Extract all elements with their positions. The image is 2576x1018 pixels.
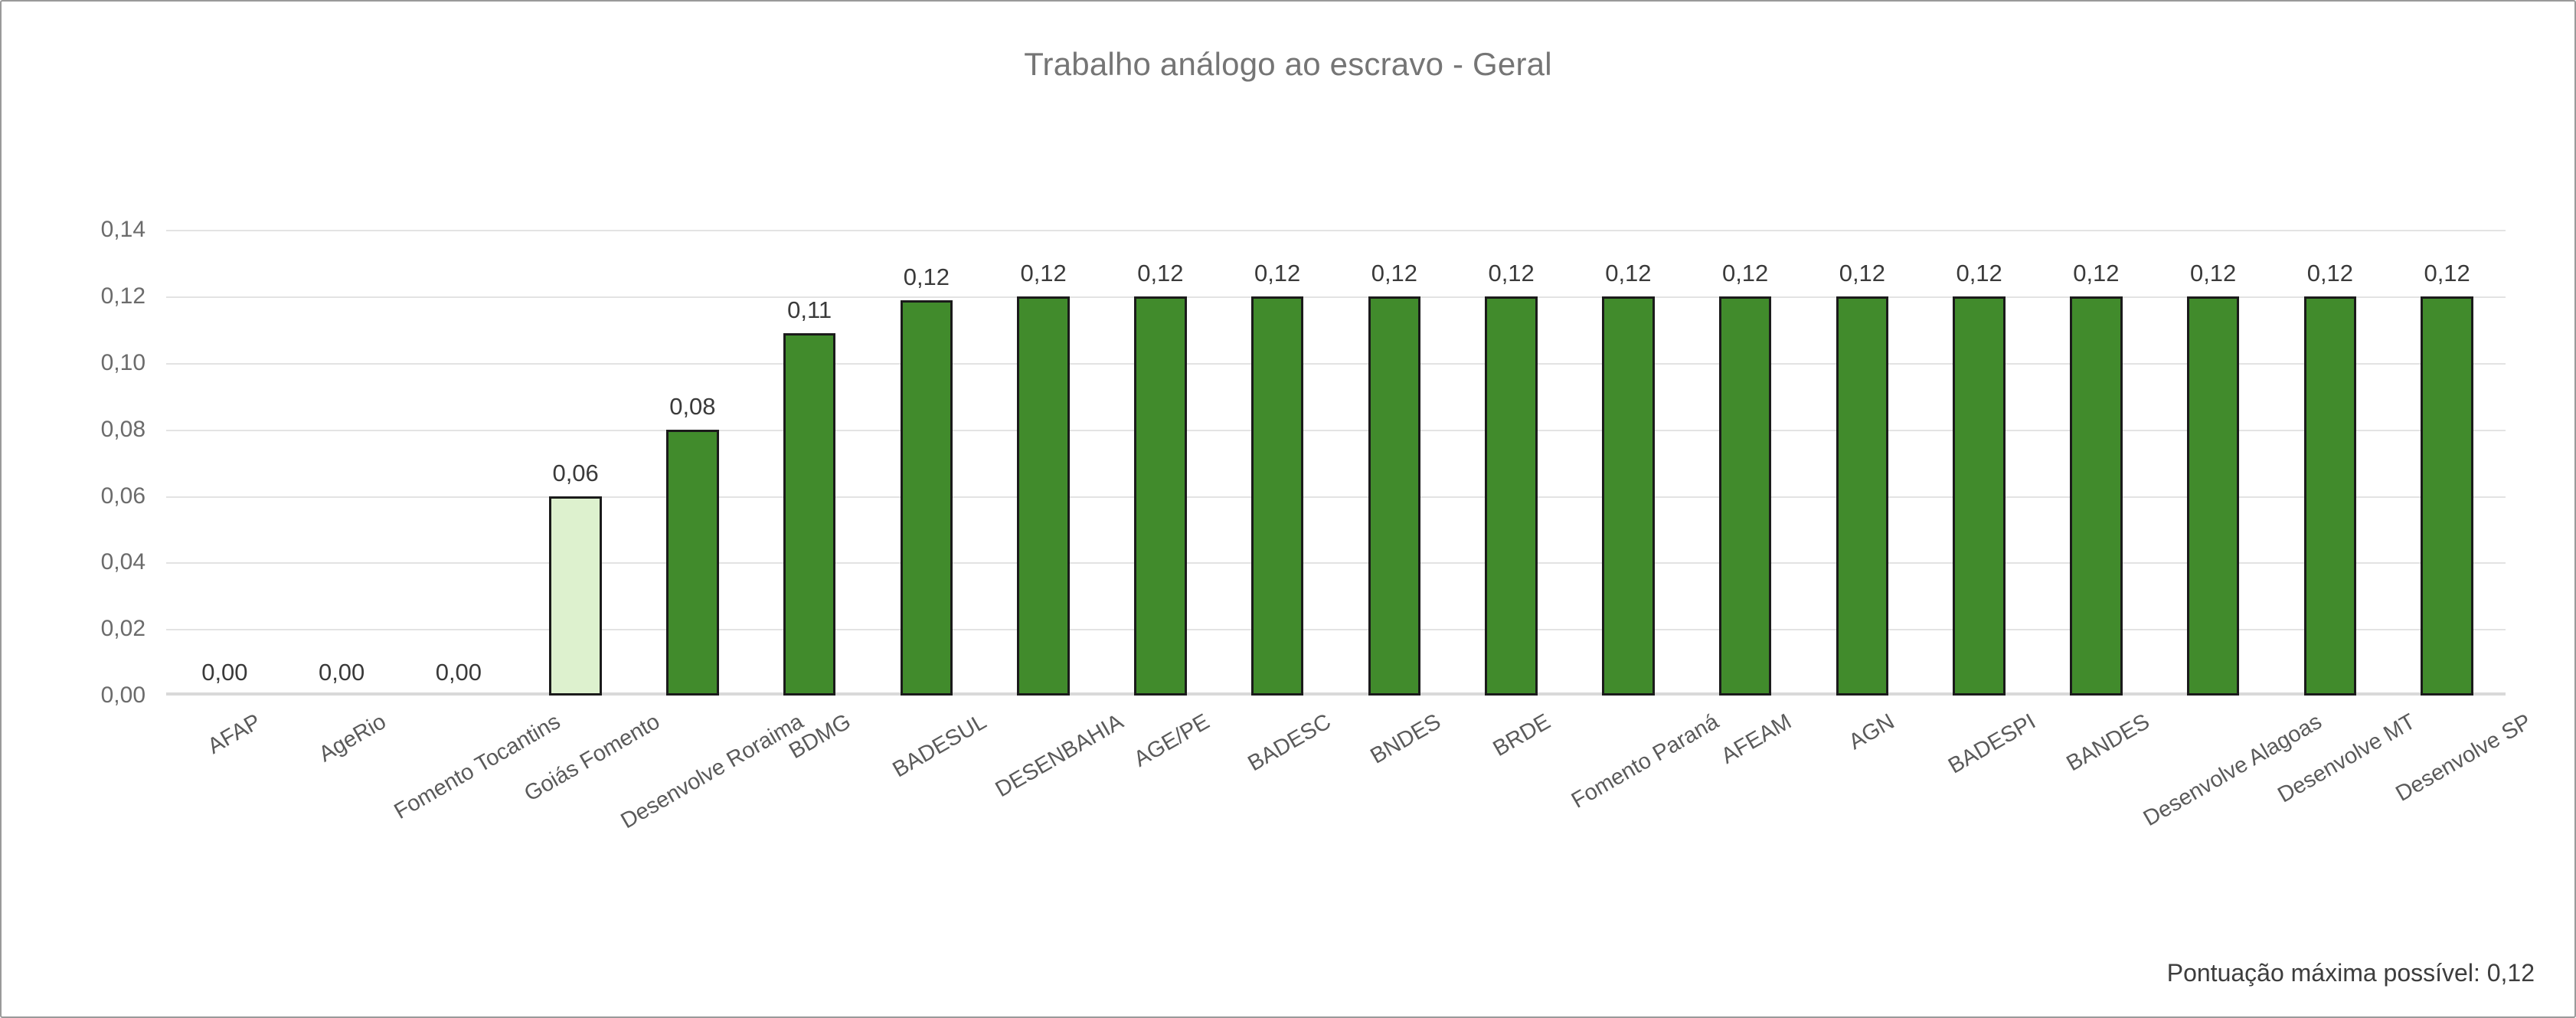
x-axis-tick: BADESC — [1219, 696, 1336, 925]
bar[interactable] — [1485, 296, 1538, 696]
x-axis-tick: Desenvolve Alagoas — [2155, 696, 2272, 925]
y-axis: 0,000,020,040,060,080,100,120,14 — [47, 197, 155, 696]
y-axis-tick-label: 0,04 — [101, 549, 145, 575]
x-axis-tick: BANDES — [2038, 696, 2155, 925]
bars-layer: 0,000,000,000,060,080,110,120,120,120,12… — [166, 197, 2506, 696]
y-axis-tick-label: 0,00 — [101, 682, 145, 709]
bar[interactable] — [2187, 296, 2240, 696]
bar-value-label: 0,11 — [751, 296, 868, 324]
x-axis: AFAPAgeRioFomento TocantinsGoiás Fomento… — [166, 696, 2506, 925]
bar-group: 0,00 — [400, 197, 518, 696]
bar-value-label: 0,08 — [634, 393, 751, 421]
x-axis-tick: BADESUL — [868, 696, 986, 925]
x-axis-tick-label: BNDES — [1366, 709, 1445, 770]
bar-group: 0,12 — [1687, 197, 1804, 696]
x-axis-tick: BRDE — [1453, 696, 1570, 925]
bar[interactable] — [2070, 296, 2123, 696]
x-axis-tick: Desenvolve SP — [2388, 696, 2506, 925]
bar[interactable] — [666, 430, 719, 696]
bar-group: 0,12 — [868, 197, 986, 696]
bar[interactable] — [1953, 296, 2006, 696]
x-axis-tick: AFEAM — [1687, 696, 1804, 925]
bar-group: 0,00 — [166, 197, 283, 696]
bar[interactable] — [901, 300, 953, 696]
y-axis-tick-label: 0,14 — [101, 217, 145, 243]
bar-value-label: 0,12 — [2272, 260, 2389, 287]
bar-value-label: 0,12 — [1219, 260, 1336, 287]
x-axis-tick-label: BADESC — [1244, 709, 1335, 777]
bar-value-label: 0,00 — [166, 659, 283, 686]
x-axis-tick-label: BANDES — [2063, 709, 2155, 777]
bar[interactable] — [1251, 296, 1304, 696]
bar[interactable] — [1134, 296, 1187, 696]
y-axis-tick-label: 0,12 — [101, 283, 145, 309]
bar-value-label: 0,12 — [2388, 260, 2506, 287]
x-axis-tick: Desenvolve MT — [2272, 696, 2389, 925]
bar[interactable] — [783, 333, 836, 696]
y-axis-tick-label: 0,08 — [101, 417, 145, 443]
x-axis-tick-label: AFEAM — [1718, 709, 1796, 770]
bar-group: 0,12 — [2388, 197, 2506, 696]
x-axis-tick-label: AFAP — [204, 709, 266, 760]
bar[interactable] — [2304, 296, 2357, 696]
bar[interactable] — [1017, 296, 1070, 696]
bar[interactable] — [1602, 296, 1655, 696]
y-axis-tick-label: 0,10 — [101, 350, 145, 376]
bar-group: 0,12 — [1804, 197, 1921, 696]
x-axis-tick: AGE/PE — [1102, 696, 1219, 925]
bar-value-label: 0,12 — [985, 260, 1102, 287]
bar[interactable] — [1719, 296, 1772, 696]
chart-title: Trabalho análogo ao escravo - Geral — [2, 46, 2574, 83]
bar-group: 0,11 — [751, 197, 868, 696]
bar-value-label: 0,12 — [1336, 260, 1453, 287]
bar-group: 0,12 — [1102, 197, 1219, 696]
x-axis-tick-label: AGN — [1845, 709, 1899, 755]
bar-value-label: 0,12 — [1687, 260, 1804, 287]
bar-group: 0,12 — [1453, 197, 1570, 696]
bar-group: 0,12 — [985, 197, 1102, 696]
bar-value-label: 0,00 — [283, 659, 400, 686]
x-axis-tick-label: AGE/PE — [1130, 709, 1214, 773]
x-axis-tick: AGN — [1804, 696, 1921, 925]
bar-group: 0,06 — [517, 197, 634, 696]
bar[interactable] — [549, 496, 602, 696]
bar-group: 0,12 — [2272, 197, 2389, 696]
x-axis-tick: AFAP — [166, 696, 283, 925]
bar-group: 0,08 — [634, 197, 751, 696]
bar-group: 0,12 — [1219, 197, 1336, 696]
bar[interactable] — [1368, 296, 1421, 696]
bar-group: 0,12 — [2038, 197, 2155, 696]
bar-value-label: 0,00 — [400, 659, 518, 686]
bar-value-label: 0,12 — [1804, 260, 1921, 287]
bar-group: 0,12 — [1336, 197, 1453, 696]
x-axis-tick: BNDES — [1336, 696, 1453, 925]
x-axis-tick-label: Desenvolve SP — [2391, 709, 2535, 807]
max-score-annotation: Pontuação máxima possível: 0,12 — [2167, 959, 2535, 987]
x-axis-tick: Desenvolve Roraima — [634, 696, 751, 925]
bar-value-label: 0,12 — [2038, 260, 2155, 287]
bar-group: 0,12 — [1921, 197, 2038, 696]
bar-group: 0,12 — [2155, 197, 2272, 696]
x-axis-tick-label: BADESUL — [888, 709, 991, 783]
x-axis-tick: BDMG — [751, 696, 868, 925]
bar-value-label: 0,12 — [1102, 260, 1219, 287]
x-axis-tick-label: BRDE — [1489, 709, 1554, 762]
x-axis-tick: Fomento Tocantins — [400, 696, 518, 925]
x-axis-tick-label: BDMG — [785, 709, 855, 764]
x-axis-tick-label: BADESPI — [1944, 709, 2040, 779]
x-axis-tick: AgeRio — [283, 696, 400, 925]
bar-value-label: 0,12 — [868, 264, 986, 291]
x-axis-tick: DESENBAHIA — [985, 696, 1102, 925]
bar-value-label: 0,12 — [1921, 260, 2038, 287]
bar-value-label: 0,12 — [2155, 260, 2272, 287]
x-axis-tick: BADESPI — [1921, 696, 2038, 925]
x-axis-tick: Fomento Paraná — [1570, 696, 1687, 925]
bar[interactable] — [2421, 296, 2473, 696]
bar-value-label: 0,12 — [1453, 260, 1570, 287]
x-axis-tick-label: AgeRio — [315, 709, 391, 768]
bar-group: 0,12 — [1570, 197, 1687, 696]
chart-container: Trabalho análogo ao escravo - Geral 0,00… — [0, 0, 2576, 1018]
bar-value-label: 0,06 — [517, 460, 634, 487]
x-axis-tick: Goiás Fomento — [517, 696, 634, 925]
bar[interactable] — [1836, 296, 1889, 696]
y-axis-tick-label: 0,06 — [101, 483, 145, 509]
y-axis-tick-label: 0,02 — [101, 616, 145, 642]
bar-group: 0,00 — [283, 197, 400, 696]
bar-value-label: 0,12 — [1570, 260, 1687, 287]
